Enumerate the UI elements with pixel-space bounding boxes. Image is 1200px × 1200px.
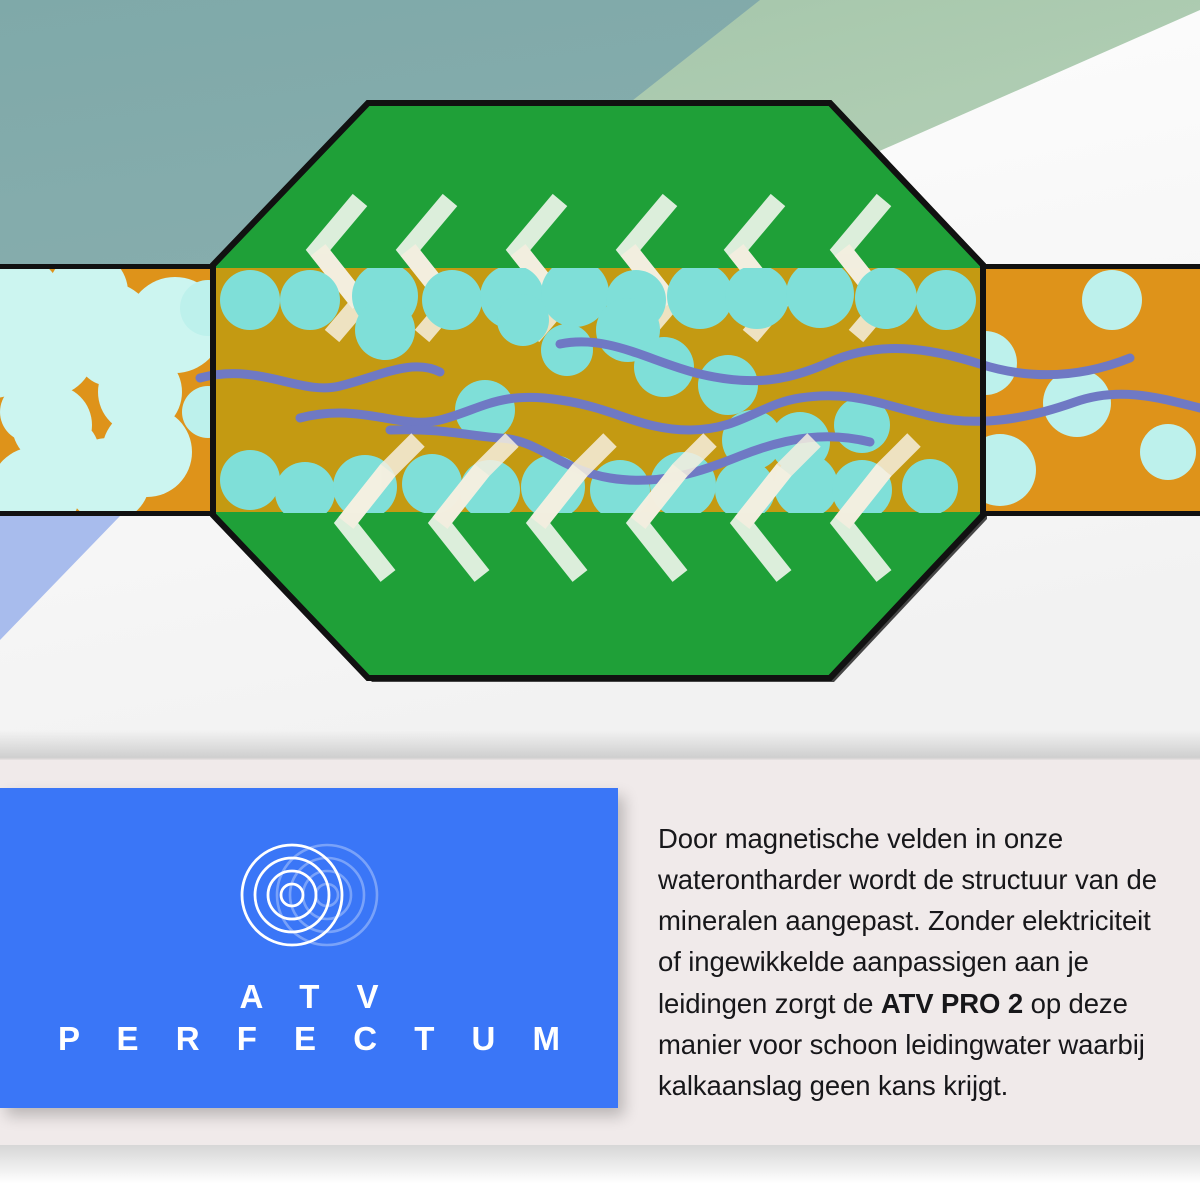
- poster-root: A T V P E R F E C T U M Door magnetische…: [0, 0, 1200, 1200]
- concentric-ripple-icon: [219, 836, 399, 954]
- illustration-panel: [0, 0, 1200, 757]
- pipe-edge-bottom-left: [0, 511, 213, 516]
- page-bottom-fade: [0, 1145, 1200, 1200]
- brand-wordmark: A T V P E R F E C T U M: [44, 976, 574, 1060]
- brand-line-2: P E R F E C T U M: [44, 1018, 574, 1060]
- panel-divider-shadow: [0, 730, 1200, 760]
- pipe-edge-top-right: [983, 264, 1200, 269]
- info-panel: A T V P E R F E C T U M Door magnetische…: [0, 760, 1200, 1145]
- pipe-edge-top-left: [0, 264, 213, 269]
- illustration-svg: [0, 0, 1200, 757]
- brand-line-1: A T V: [44, 976, 574, 1018]
- brand-logo-box[interactable]: A T V P E R F E C T U M: [0, 788, 618, 1108]
- pipe-edge-bottom-right: [983, 511, 1200, 516]
- description-paragraph: Door magnetische velden in onze wateront…: [658, 818, 1158, 1107]
- product-name: ATV PRO 2: [881, 988, 1023, 1019]
